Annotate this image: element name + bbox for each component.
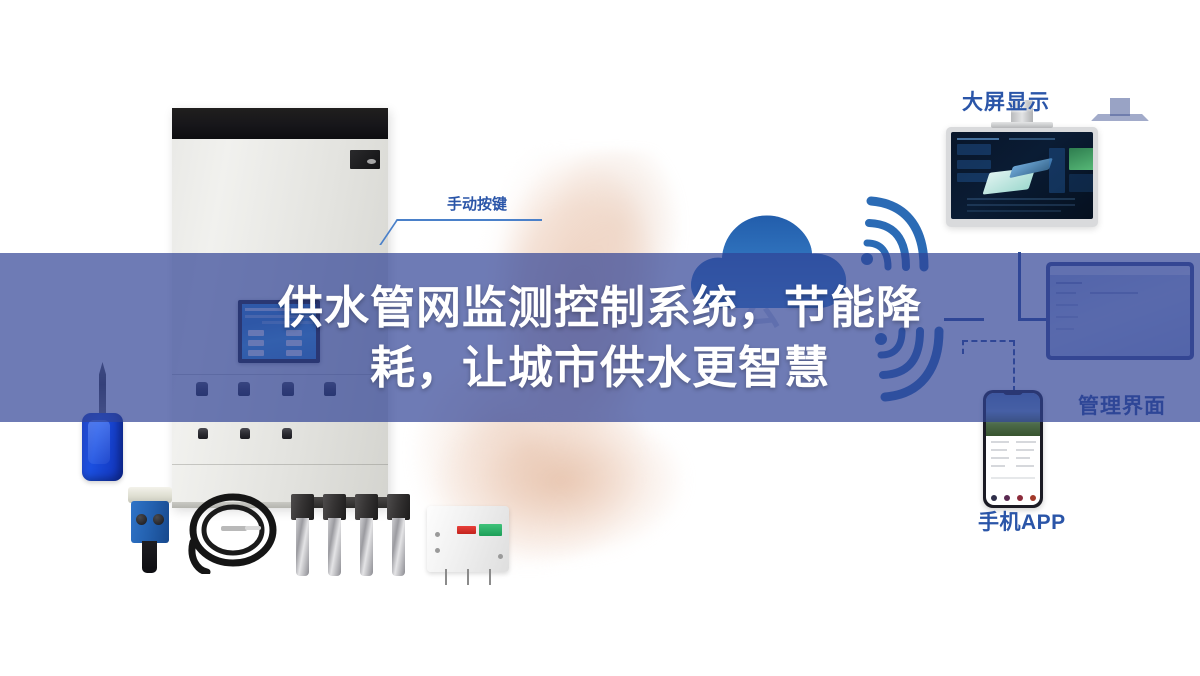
phone-tab-item[interactable] xyxy=(1017,495,1023,501)
big-screen-dashboard xyxy=(951,132,1093,219)
radar-antenna-stem xyxy=(142,541,157,573)
cabinet-button[interactable] xyxy=(240,428,250,439)
enclosure-red-label xyxy=(457,526,476,534)
label-manual-buttons: 手动按键 xyxy=(447,193,507,214)
infographic-canvas: 云 xyxy=(0,0,1200,676)
instrument-enclosure-box xyxy=(427,506,509,572)
stainless-probe xyxy=(387,494,410,576)
stainless-probe xyxy=(291,494,314,576)
phone-tab-item[interactable] xyxy=(1030,495,1036,501)
stainless-probe xyxy=(323,494,346,576)
title-banner: 供水管网监测控制系统，节能降 耗，让城市供水更智慧 xyxy=(0,253,1200,422)
monitor-base xyxy=(991,122,1053,128)
label-phone-app: 手机APP xyxy=(978,506,1066,536)
cabinet-top-band xyxy=(172,108,388,139)
cabinet-button[interactable] xyxy=(282,428,292,439)
banner-line-1: 供水管网监测控制系统，节能降 xyxy=(278,278,922,337)
stainless-probe xyxy=(355,494,378,576)
cabinet-brand-badge xyxy=(350,150,380,169)
float-level-sensor xyxy=(82,413,123,481)
label-big-screen: 大屏显示 xyxy=(962,86,1050,116)
cabinet-button[interactable] xyxy=(198,428,208,439)
phone-tab-item[interactable] xyxy=(991,495,997,501)
big-screen-monitor[interactable] xyxy=(946,127,1098,227)
banner-line-2: 耗，让城市供水更智慧 xyxy=(370,338,830,397)
phone-tab-item[interactable] xyxy=(1004,495,1010,501)
manual-callout-underline xyxy=(404,219,542,221)
enclosure-green-label xyxy=(479,524,502,536)
signal-cable xyxy=(185,490,281,574)
radar-level-meter xyxy=(128,487,172,573)
management-monitor-stand xyxy=(1110,98,1130,116)
radar-body xyxy=(131,501,169,543)
management-monitor-base xyxy=(1091,114,1149,121)
